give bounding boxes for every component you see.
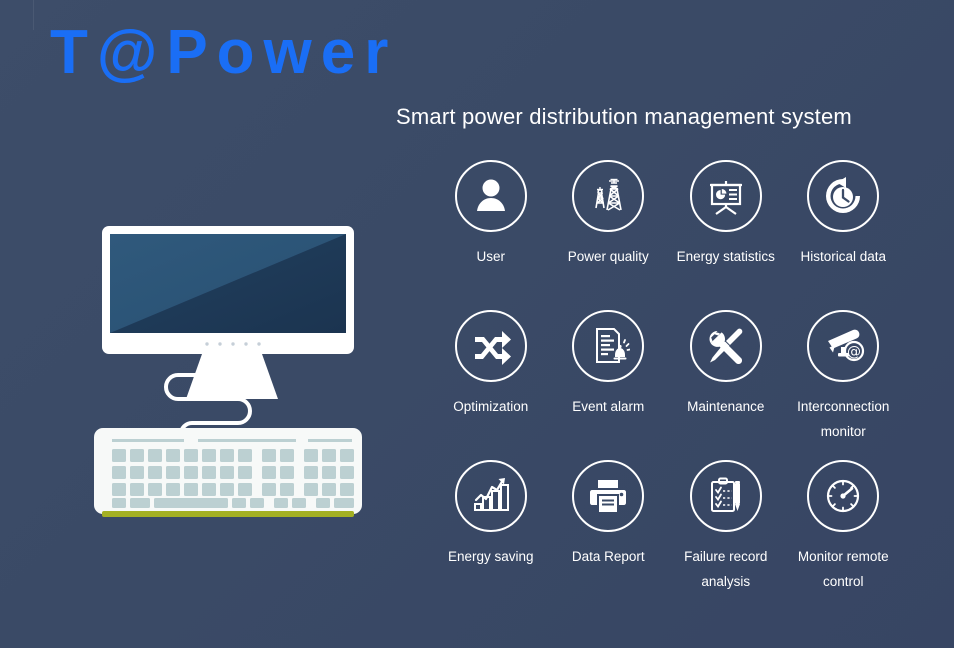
feature-label: Event alarm	[572, 395, 644, 420]
feature-grid: User	[432, 160, 902, 610]
keyboard	[94, 428, 362, 517]
security-camera-at-icon: @	[807, 310, 879, 382]
feature-row: Optimization	[432, 310, 902, 460]
shuffle-arrows-icon	[455, 310, 527, 382]
clock-history-icon	[807, 160, 879, 232]
feature-label: Energy statistics	[677, 245, 775, 270]
feature-energy-statistics[interactable]: Energy statistics	[667, 160, 785, 310]
gauge-icon	[807, 460, 879, 532]
monitor	[102, 226, 354, 399]
feature-event-alarm[interactable]: Event alarm	[550, 310, 668, 460]
feature-monitor-remote-control[interactable]: Monitor remote control	[785, 460, 903, 610]
feature-label: Energy saving	[448, 545, 534, 570]
printer-icon	[572, 460, 644, 532]
feature-label: Power quality	[568, 245, 649, 270]
feature-failure-record-analysis[interactable]: Failure record analysis	[667, 460, 785, 610]
feature-row: Energy saving Data Report	[432, 460, 902, 610]
feature-label: Failure record analysis	[668, 545, 783, 595]
feature-optimization[interactable]: Optimization	[432, 310, 550, 460]
app-root: T@Power Smart power distribution managem…	[0, 0, 954, 648]
edge-artifact	[33, 0, 34, 30]
feature-power-quality[interactable]: Power quality	[550, 160, 668, 310]
page-subtitle: Smart power distribution management syst…	[396, 104, 852, 130]
feature-label: Maintenance	[687, 395, 764, 420]
presentation-chart-icon	[690, 160, 762, 232]
svg-text:@: @	[847, 344, 861, 360]
feature-data-report[interactable]: Data Report	[550, 460, 668, 610]
power-tower-icon	[572, 160, 644, 232]
page-title: T@Power	[50, 22, 397, 84]
feature-label: Historical data	[800, 245, 886, 270]
feature-maintenance[interactable]: Maintenance	[667, 310, 785, 460]
feature-label: Monitor remote control	[786, 545, 901, 595]
feature-historical-data[interactable]: Historical data	[785, 160, 903, 310]
user-icon	[455, 160, 527, 232]
feature-interconnection-monitor[interactable]: @ Interconnection monitor	[785, 310, 903, 460]
desktop-computer-illustration	[80, 210, 380, 540]
document-alarm-icon	[572, 310, 644, 382]
feature-label: Data Report	[572, 545, 645, 570]
feature-energy-saving[interactable]: Energy saving	[432, 460, 550, 610]
wrench-screwdriver-icon	[690, 310, 762, 382]
feature-label: Interconnection monitor	[786, 395, 901, 445]
feature-user[interactable]: User	[432, 160, 550, 310]
feature-label: User	[476, 245, 505, 270]
feature-row: User	[432, 160, 902, 310]
clipboard-checklist-pen-icon	[690, 460, 762, 532]
bar-chart-arrow-icon	[455, 460, 527, 532]
feature-label: Optimization	[453, 395, 528, 420]
